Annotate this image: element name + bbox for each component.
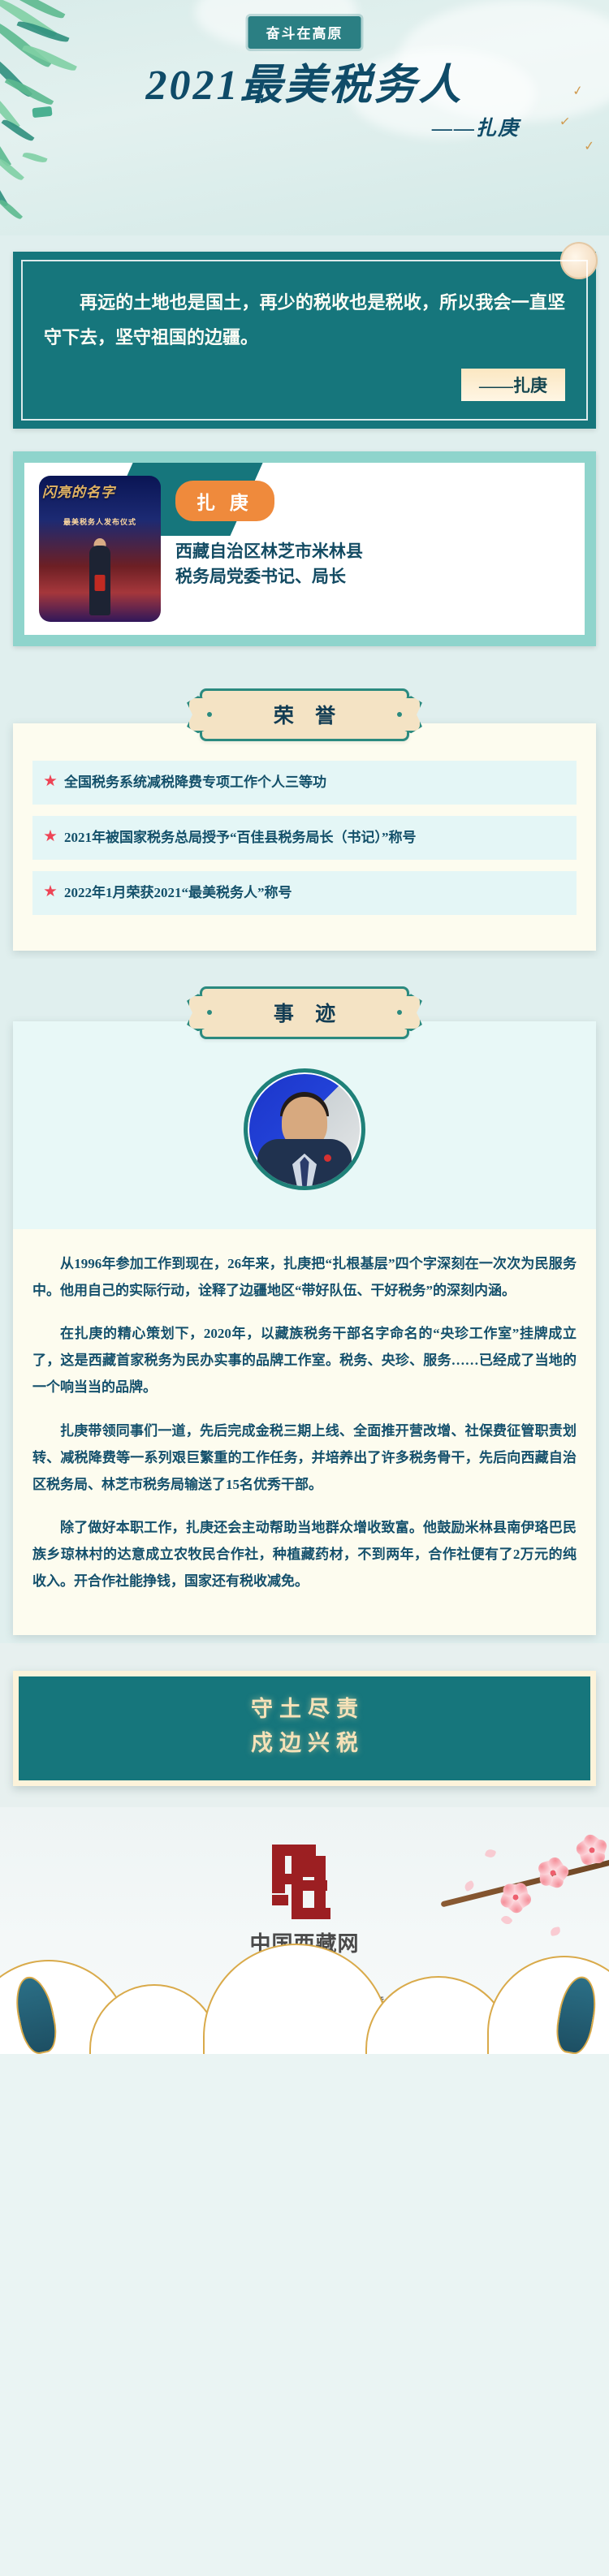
honor-text: 2021年被国家税务总局授予“百佳县税务局长（书记）”称号 [64, 826, 417, 849]
person-title: 西藏自治区林芝市米林县 税务局党委书记、局长 [175, 539, 363, 590]
footer: 中国西藏网 www.tibet.cn 编辑/陈卫国 于超 制作/李雨潼 图片来源… [0, 1807, 609, 2054]
bird-icon: ✓ [571, 82, 584, 100]
profile-details: 扎 庚 西藏自治区林芝市米林县 税务局党委书记、局长 [175, 476, 363, 622]
portrait-wrap [13, 1068, 596, 1190]
quote-attribution: ——扎庚 [461, 369, 565, 401]
plaque-dot-icon [397, 1010, 402, 1015]
deeds-section: 事 迹 从1996年参加工作到现在，26年来，扎庚把“扎根基层”四个字深刻在一次… [0, 959, 609, 1644]
slogan-section: 守土尽责 戍边兴税 [0, 1643, 609, 1807]
slogan-outer-frame: 守土尽责 戍边兴税 [13, 1671, 596, 1786]
photo-caption-subtitle: 最美税务人发布仪式 [39, 516, 161, 527]
plaque-dot-icon [397, 712, 402, 717]
blossom-icon [578, 1836, 606, 1864]
falling-petal-icon [485, 1848, 497, 1859]
quote-box: 再远的土地也是国土，再少的税收也是税收，所以我会一直坚守下去，坚守祖国的边疆。 … [13, 252, 596, 429]
hero-banner: 奋斗在高原 2021最美税务人 ——扎庚 ✓ ✓ ✓ [0, 0, 609, 235]
quote-text: 再远的土地也是国土，再少的税收也是税收，所以我会一直坚守下去，坚守祖国的边疆。 [44, 286, 565, 356]
profile-card: 闪亮的名字 最美税务人发布仪式 扎 庚 西藏自治区林芝市米林县 税务局党委书记、… [24, 463, 585, 635]
quote-inner-frame: 再远的土地也是国土，再少的税收也是税收，所以我会一直坚守下去，坚守祖国的边疆。 … [21, 260, 588, 421]
list-item: ★ 2021年被国家税务总局授予“百佳县税务局长（书记）”称号 [32, 816, 577, 860]
honor-text: 全国税务系统减税降费专项工作个人三等功 [64, 771, 326, 794]
deed-paragraph: 扎庚带领同事们一道，先后完成金税三期上线、全面推开营改增、社保费征管职责划转、减… [32, 1417, 577, 1498]
falling-petal-icon [500, 1914, 513, 1927]
award-ceremony-photo: 闪亮的名字 最美税务人发布仪式 [39, 476, 161, 622]
deeds-heading: 事 迹 [202, 998, 407, 1027]
hero-subtitle: ——扎庚 [432, 112, 520, 141]
avatar [244, 1068, 365, 1190]
deed-paragraph: 从1996年参加工作到现在，26年来，扎庚把“扎根基层”四个字深刻在一次次为民服… [32, 1250, 577, 1304]
deeds-heading-plaque: 事 迹 [200, 986, 409, 1039]
profile-outer-frame: 闪亮的名字 最美税务人发布仪式 扎 庚 西藏自治区林芝市米林县 税务局党委书记、… [13, 451, 596, 646]
profile-section: 闪亮的名字 最美税务人发布仪式 扎 庚 西藏自治区林芝市米林县 税务局党委书记、… [0, 448, 609, 666]
honors-panel-body: ★ 全国税务系统减税降费专项工作个人三等功 ★ 2021年被国家税务总局授予“百… [13, 723, 596, 951]
falling-petal-icon [550, 1927, 561, 1936]
honor-text: 2022年1月荣获2021“最美税务人”称号 [64, 882, 292, 904]
deed-paragraph: 除了做好本职工作，扎庚还会主动帮助当地群众增收致富。他鼓励米林县南伊珞巴民族乡琼… [32, 1514, 577, 1594]
plaque-dot-icon [207, 712, 212, 717]
blossom-icon [502, 1883, 529, 1911]
photo-caption-title: 闪亮的名字 [42, 481, 158, 501]
list-item: ★ 2022年1月荣获2021“最美税务人”称号 [32, 871, 577, 915]
photo-certificate [95, 575, 106, 591]
willow-leaves-decoration [0, 0, 162, 235]
star-icon: ★ [44, 882, 57, 903]
list-item: ★ 全国税务系统减税降费专项工作个人三等功 [32, 761, 577, 805]
peach-blossom-decoration [430, 1832, 609, 1970]
star-icon: ★ [44, 771, 57, 792]
bird-icon: ✓ [583, 138, 595, 155]
honors-section: 荣 誉 ★ 全国税务系统减税降费专项工作个人三等功 ★ 2021年被国家税务总局… [0, 666, 609, 959]
slogan-line-1: 守土尽责 [19, 1693, 590, 1727]
honors-heading-plaque: 荣 誉 [200, 688, 409, 741]
deeds-panel-body: 从1996年参加工作到现在，26年来，扎庚把“扎根基层”四个字深刻在一次次为民服… [13, 1021, 596, 1636]
person-title-line2: 税务局党委书记、局长 [175, 564, 363, 590]
portrait-badge-icon [324, 1154, 331, 1162]
star-icon: ★ [44, 826, 57, 848]
bird-icon: ✓ [559, 113, 571, 130]
deed-paragraph: 在扎庚的精心策划下，2020年，以藏族税务干部名字命名的“央珍工作室”挂牌成立了… [32, 1320, 577, 1400]
page-title: 2021最美税务人 [0, 50, 609, 111]
slogan-line-2: 戍边兴税 [19, 1727, 590, 1761]
person-title-line1: 西藏自治区林芝市米林县 [175, 539, 363, 565]
plaque-dot-icon [207, 1010, 212, 1015]
falling-petal-icon [463, 1880, 475, 1892]
honors-heading: 荣 誉 [202, 700, 407, 729]
portrait-band [13, 1021, 596, 1229]
tibet-seal-logo-icon [267, 1845, 342, 1919]
slogan-inner: 守土尽责 戍边兴税 [19, 1676, 590, 1780]
blossom-icon [539, 1859, 567, 1887]
hero-tag: 奋斗在高原 [248, 16, 361, 49]
quote-section: 再远的土地也是国土，再少的税收也是税收，所以我会一直坚守下去，坚守祖国的边疆。 … [0, 235, 609, 448]
person-name-badge: 扎 庚 [175, 481, 274, 521]
